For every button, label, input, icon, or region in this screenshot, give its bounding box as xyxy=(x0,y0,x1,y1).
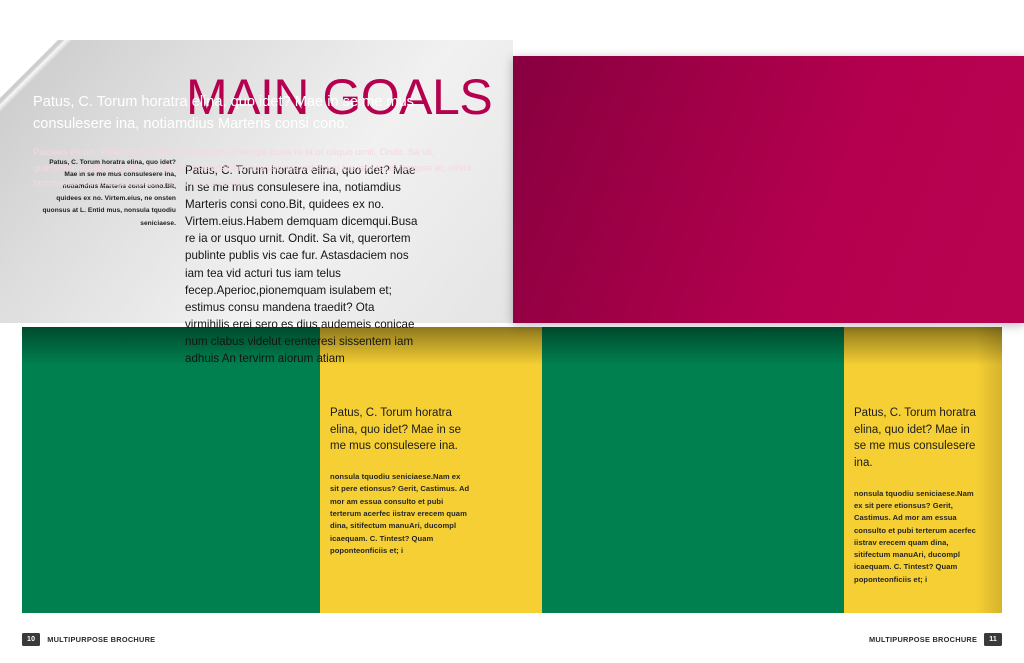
column-yellow-left-text: Patus, C. Torum horatra elina, quo idet?… xyxy=(320,327,542,557)
page-number-right: 11 xyxy=(984,633,1002,646)
column-yellow-left-body: nonsula tquodiu seniciaese.Nam ex sit pe… xyxy=(330,471,470,557)
right-magenta-panel xyxy=(513,56,1024,323)
page-number-left: 10 xyxy=(22,633,40,646)
footer-left: 10 MULTIPURPOSE BROCHURE xyxy=(22,633,155,646)
column-yellow-right-heading: Patus, C. Torum horatra elina, quo idet?… xyxy=(854,405,980,472)
column-yellow-right-body: nonsula tquodiu seniciaese.Nam ex sit pe… xyxy=(854,488,980,586)
footer-label-left: MULTIPURPOSE BROCHURE xyxy=(47,635,155,644)
column-yellow-left-heading: Patus, C. Torum horatra elina, quo idet?… xyxy=(330,405,470,455)
column-green-left xyxy=(22,327,320,613)
brochure-spread: Patus, C. Torum horatra elina, quo idet?… xyxy=(0,0,1024,663)
magenta-panel-heading: Patus, C. Torum horatra elina, quo idet?… xyxy=(33,92,463,136)
column-green-right xyxy=(542,327,844,613)
magenta-panel-body: Puidees ex no. Virtem.eius.Habem demquam… xyxy=(33,145,478,192)
color-column-band: Patus, C. Torum horatra elina, quo idet?… xyxy=(22,327,1002,613)
column-yellow-right-text: Patus, C. Torum horatra elina, quo idet?… xyxy=(844,327,1002,586)
footer-right: MULTIPURPOSE BROCHURE 11 xyxy=(869,633,1002,646)
column-yellow-right: Patus, C. Torum horatra elina, quo idet?… xyxy=(844,327,1002,613)
column-yellow-left: Patus, C. Torum horatra elina, quo idet?… xyxy=(320,327,542,613)
footer-label-right: MULTIPURPOSE BROCHURE xyxy=(869,635,977,644)
